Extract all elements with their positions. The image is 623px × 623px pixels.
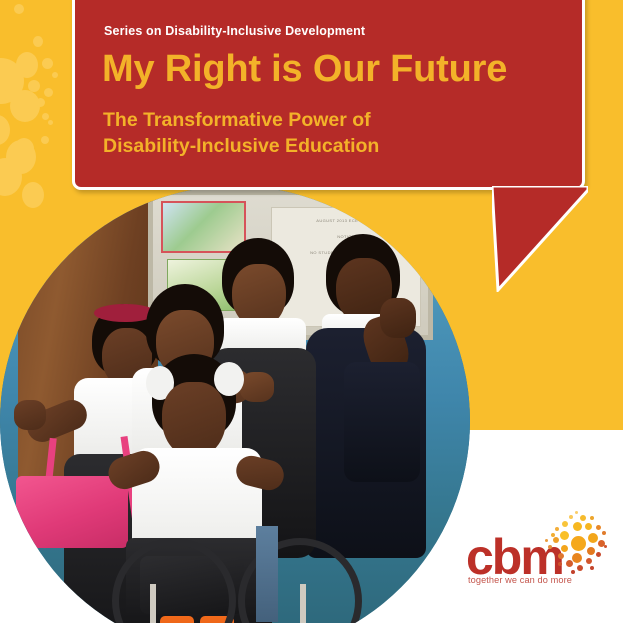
- speech-bubble-tail: [492, 186, 588, 292]
- cover-page: AUGUST 2013 ECE EXAMS NOTICE NO STUDENT …: [0, 0, 623, 623]
- series-eyebrow: Series on Disability-Inclusive Developme…: [104, 24, 365, 38]
- page-subtitle: The Transformative Power of Disability-I…: [103, 108, 379, 159]
- page-title: My Right is Our Future: [102, 47, 507, 91]
- cbm-logo: cbm together we can do more: [466, 518, 611, 593]
- subtitle-line-1: The Transformative Power of: [103, 108, 379, 134]
- subtitle-line-2: Disability-Inclusive Education: [103, 134, 379, 160]
- cover-photograph: AUGUST 2013 ECE EXAMS NOTICE NO STUDENT …: [0, 186, 470, 623]
- cbm-sunburst-icon: [544, 514, 610, 576]
- cbm-tagline: together we can do more: [468, 575, 572, 585]
